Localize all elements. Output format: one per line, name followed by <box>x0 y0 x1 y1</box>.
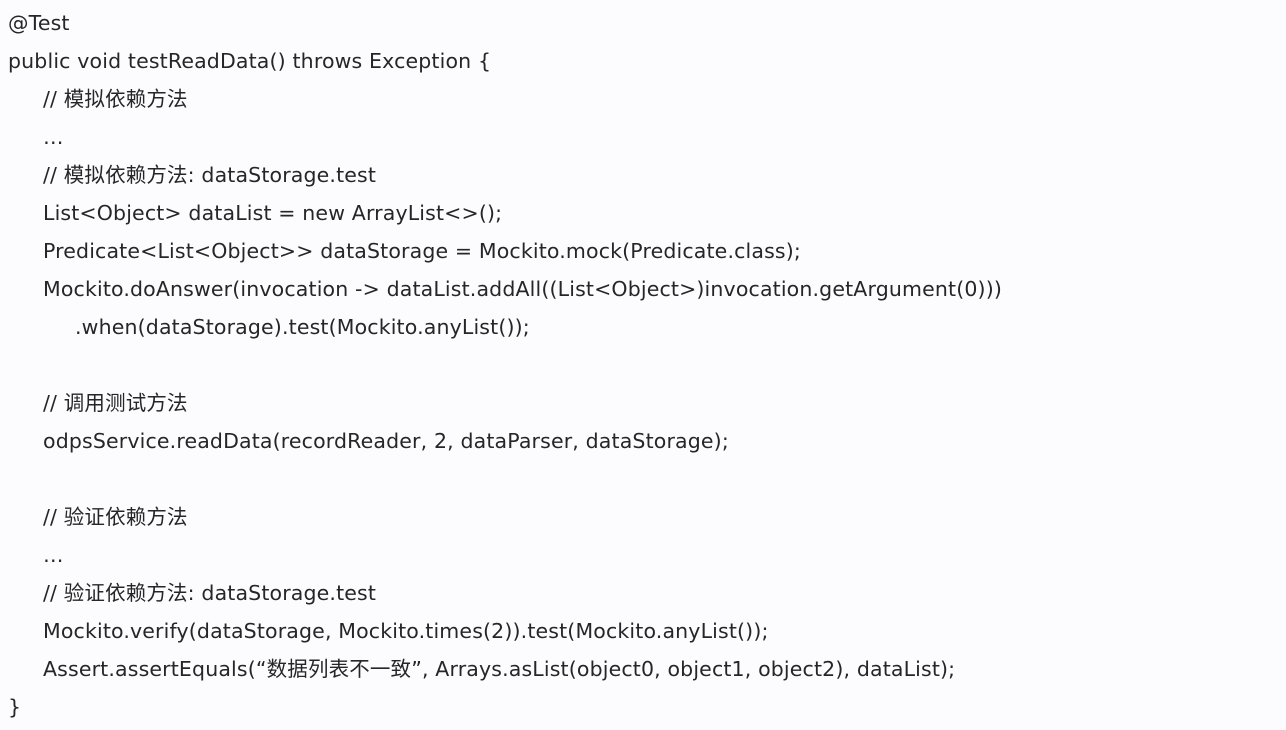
code-line: // 调用测试方法 <box>0 384 1286 422</box>
code-line: Mockito.verify(dataStorage, Mockito.time… <box>0 612 1286 650</box>
code-line-blank <box>0 346 1286 384</box>
code-line: } <box>0 688 1286 726</box>
code-line: @Test <box>0 4 1286 42</box>
code-line: odpsService.readData(recordReader, 2, da… <box>0 422 1286 460</box>
code-line: // 模拟依赖方法: dataStorage.test <box>0 156 1286 194</box>
code-line: // 验证依赖方法: dataStorage.test <box>0 574 1286 612</box>
code-line: … <box>0 118 1286 156</box>
code-line: List<Object> dataList = new ArrayList<>(… <box>0 194 1286 232</box>
code-line: Mockito.doAnswer(invocation -> dataList.… <box>0 270 1286 308</box>
code-line: … <box>0 536 1286 574</box>
code-line: .when(dataStorage).test(Mockito.anyList(… <box>0 308 1286 346</box>
code-line: Predicate<List<Object>> dataStorage = Mo… <box>0 232 1286 270</box>
code-line: // 验证依赖方法 <box>0 498 1286 536</box>
code-line: Assert.assertEquals(“数据列表不一致”, Arrays.as… <box>0 650 1286 688</box>
code-line: // 模拟依赖方法 <box>0 80 1286 118</box>
code-line: public void testReadData() throws Except… <box>0 42 1286 80</box>
code-snippet-block: @Testpublic void testReadData() throws E… <box>0 0 1286 730</box>
code-line-blank <box>0 460 1286 498</box>
